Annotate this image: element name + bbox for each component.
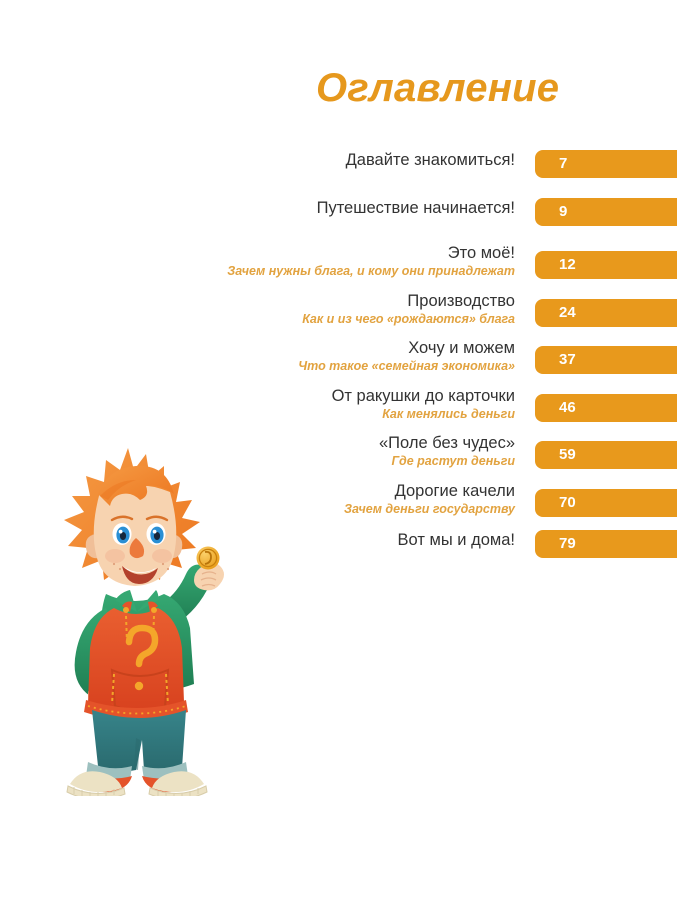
toc-entry-subtitle: Зачем деньги государству	[195, 502, 515, 517]
toc-entry-title[interactable]: Давайте знакомиться!	[195, 150, 515, 171]
toc-page: Оглавление Давайте знакомиться!7Путешест…	[0, 0, 677, 898]
toc-entry-title[interactable]: Хочу и можем	[195, 338, 515, 359]
toc-page-bar[interactable]: 9	[535, 198, 677, 226]
pants	[86, 710, 188, 782]
toc-entry-text: Это моё!Зачем нужны блага, и кому они пр…	[195, 243, 515, 279]
toc-entry-text: Вот мы и дома!	[195, 530, 515, 551]
toc-entry[interactable]: Путешествие начинается!9	[180, 198, 677, 246]
toc-page-number: 37	[559, 346, 576, 374]
toc-entry[interactable]: Это моё!Зачем нужны блага, и кому они пр…	[180, 245, 677, 293]
toc-page-number: 70	[559, 489, 576, 517]
toc-page-number: 79	[559, 530, 576, 558]
toc-entry[interactable]: Дорогие качелиЗачем деньги государству70	[180, 483, 677, 531]
page-title: Оглавление	[316, 68, 559, 108]
toc-page-number: 46	[559, 394, 576, 422]
toc-page-number: 59	[559, 441, 576, 469]
toc-entry-title[interactable]: От ракушки до карточки	[195, 386, 515, 407]
toc-entry-title[interactable]: Это моё!	[195, 243, 515, 264]
toc-page-bar[interactable]: 7	[535, 150, 677, 178]
toc-page-bar[interactable]: 46	[535, 394, 677, 422]
toc-entry-title[interactable]: Путешествие начинается!	[195, 198, 515, 219]
toc-entry[interactable]: Хочу и можемЧто такое «семейная экономик…	[180, 340, 677, 388]
toc-entry-text: От ракушки до карточкиКак менялись деньг…	[195, 386, 515, 422]
toc-entry-text: ПроизводствоКак и из чего «рождаются» бл…	[195, 291, 515, 327]
toc-entry-subtitle: Что такое «семейная экономика»	[195, 359, 515, 374]
toc-entry[interactable]: ПроизводствоКак и из чего «рождаются» бл…	[180, 293, 677, 341]
toc-page-bar[interactable]: 37	[535, 346, 677, 374]
toc-page-bar[interactable]: 12	[535, 251, 677, 279]
toc-entry-text: «Поле без чудес»Где растут деньги	[195, 433, 515, 469]
toc-page-number: 24	[559, 299, 576, 327]
toc-entry-title[interactable]: Производство	[195, 291, 515, 312]
toc-entry-text: Давайте знакомиться!	[195, 150, 515, 171]
toc-entry-subtitle: Как менялись деньги	[195, 407, 515, 422]
toc-page-number: 9	[559, 198, 567, 226]
toc-entry[interactable]: «Поле без чудес»Где растут деньги59	[180, 435, 677, 483]
toc-entry-title[interactable]: «Поле без чудес»	[195, 433, 515, 454]
toc-entry[interactable]: Давайте знакомиться!7	[180, 150, 677, 198]
toc-page-bar[interactable]: 59	[535, 441, 677, 469]
illustration-cartoon-boy-with-coin	[30, 438, 240, 796]
toc-entry-title[interactable]: Вот мы и дома!	[195, 530, 515, 551]
toc-page-bar[interactable]: 70	[535, 489, 677, 517]
toc-entry-subtitle: Как и из чего «рождаются» блага	[195, 312, 515, 327]
toc-page-number: 12	[559, 251, 576, 279]
toc-entry-text: Хочу и можемЧто такое «семейная экономик…	[195, 338, 515, 374]
toc-entry-text: Путешествие начинается!	[195, 198, 515, 219]
toc-page-number: 7	[559, 150, 567, 178]
shoes	[67, 771, 207, 796]
table-of-contents: Давайте знакомиться!7Путешествие начинае…	[180, 150, 677, 578]
toc-entry-title[interactable]: Дорогие качели	[195, 481, 515, 502]
toc-entry-subtitle: Где растут деньги	[195, 454, 515, 469]
toc-entry-text: Дорогие качелиЗачем деньги государству	[195, 481, 515, 517]
toc-entry[interactable]: От ракушки до карточкиКак менялись деньг…	[180, 388, 677, 436]
toc-page-bar[interactable]: 79	[535, 530, 677, 558]
toc-entry-subtitle: Зачем нужны блага, и кому они принадлежа…	[195, 264, 515, 279]
toc-entry[interactable]: Вот мы и дома!79	[180, 530, 677, 578]
toc-page-bar[interactable]: 24	[535, 299, 677, 327]
